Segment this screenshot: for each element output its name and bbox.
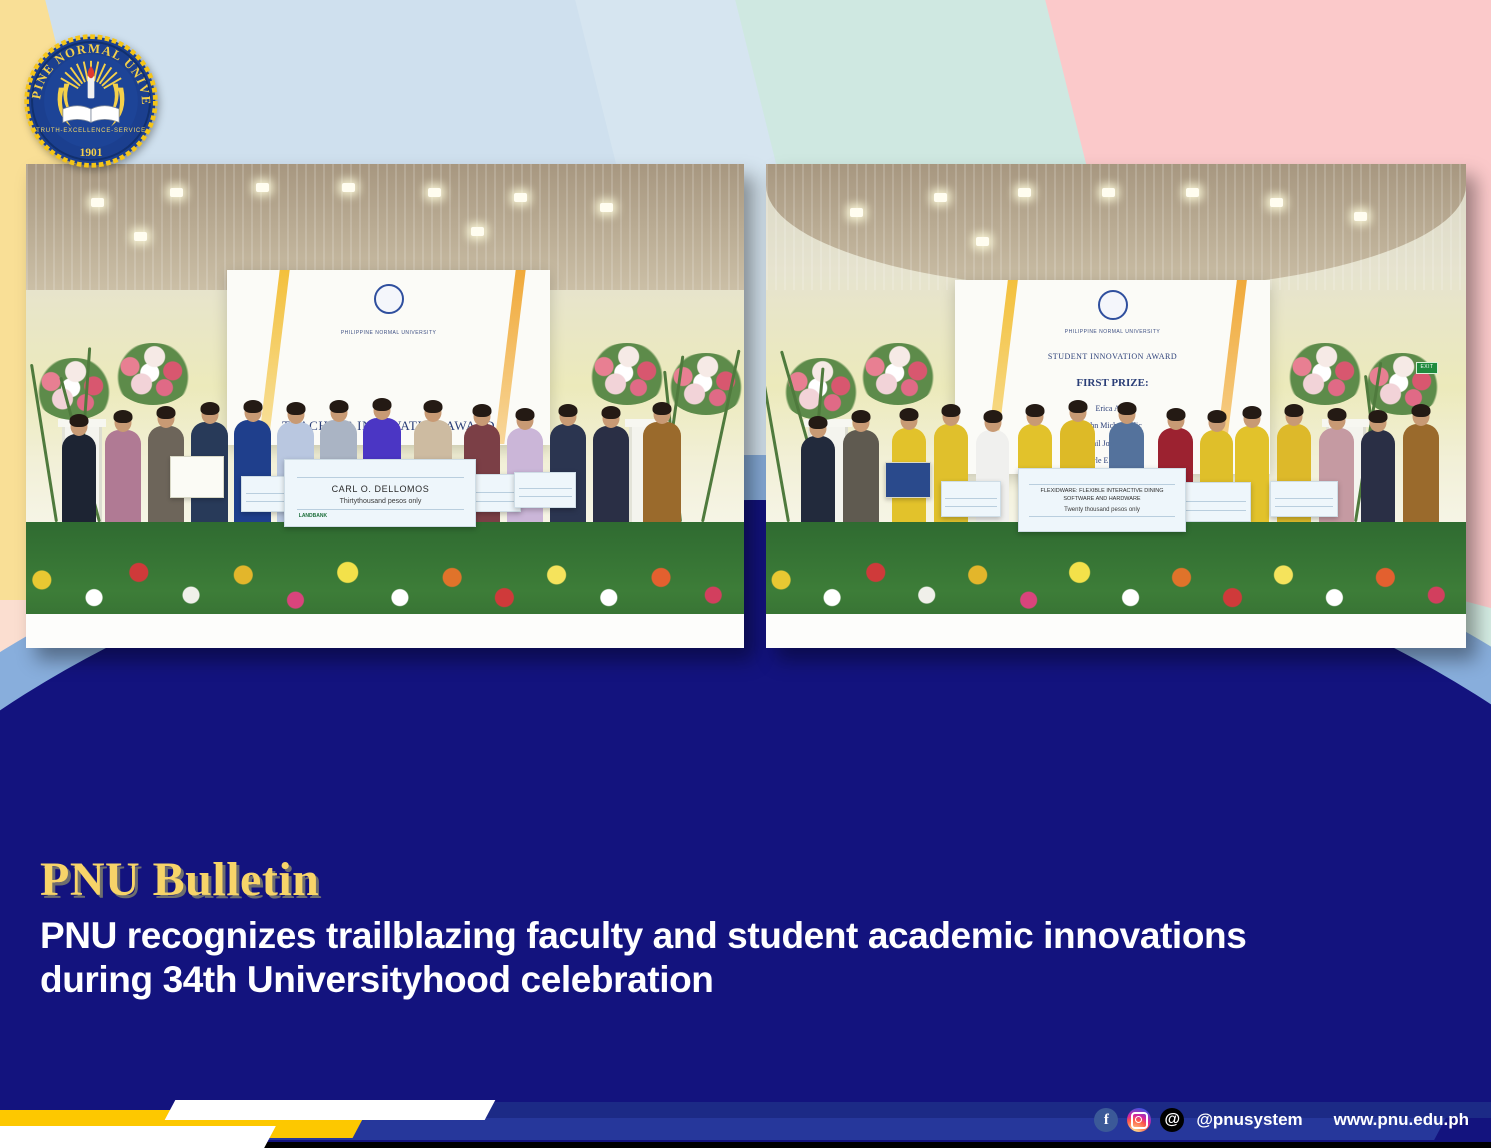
social-media-bar: f @ @pnusystem www.pnu.edu.ph [1094, 1108, 1469, 1132]
social-handle[interactable]: @pnusystem [1196, 1110, 1302, 1130]
check-project-right: FLEXIDWARE: FLEXIBLE INTERACTIVE DINING … [1036, 487, 1169, 503]
check-main-left: CARL O. DELLOMOS Thirtythousand pesos on… [284, 459, 476, 527]
check-bank-left: LANDBANK [299, 513, 327, 519]
bulletin-kicker: PNU Bulletin [40, 852, 319, 907]
headline: PNU recognizes trailblazing faculty and … [40, 914, 1440, 1003]
screen-university-right: PHILIPPINE NORMAL UNIVERSITY [1065, 329, 1161, 335]
photo-student-innovation-award: PHILIPPINE NORMAL UNIVERSITY STUDENT INN… [766, 164, 1466, 648]
svg-text:1901: 1901 [80, 147, 103, 159]
check-payee-left: CARL O. DELLOMOS [332, 484, 430, 494]
screen-prize-label-right: FIRST PRIZE: [1076, 377, 1148, 389]
pnu-seal-logo: TRUTH-EXCELLENCE-SERVICE PHILIPPINE NORM… [24, 28, 158, 174]
check-small-right-3 [1270, 481, 1338, 517]
check-amount-left: Thirtythousand pesos only [340, 498, 422, 505]
check-small-right-1 [941, 481, 1001, 517]
headline-line-1: PNU recognizes trailblazing faculty and … [40, 914, 1440, 958]
certificate-right [885, 462, 931, 498]
website-url[interactable]: www.pnu.edu.ph [1334, 1110, 1469, 1130]
exit-sign: EXIT [1416, 362, 1438, 374]
check-amount-right: Twenty thousand pesos only [1064, 507, 1140, 513]
threads-icon[interactable]: @ [1160, 1108, 1184, 1132]
pnu-bulletin-poster: TRUTH-EXCELLENCE-SERVICE PHILIPPINE NORM… [0, 0, 1491, 1148]
instagram-icon[interactable] [1127, 1108, 1151, 1132]
screen-university-left: PHILIPPINE NORMAL UNIVERSITY [341, 330, 437, 336]
screen-award-title-right: STUDENT INNOVATION AWARD [1048, 352, 1177, 361]
headline-line-2: during 34th Universityhood celebration [40, 958, 1440, 1002]
photo-teaching-innovation-award: PHILIPPINE NORMAL UNIVERSITY TEACHING IN… [26, 164, 744, 648]
check-small-right-2 [1179, 482, 1251, 522]
certificate-left [170, 456, 224, 498]
facebook-icon[interactable]: f [1094, 1108, 1118, 1132]
check-main-right: FLEXIDWARE: FLEXIBLE INTERACTIVE DINING … [1018, 468, 1186, 532]
check-small-left-3 [514, 472, 576, 508]
svg-text:TRUTH-EXCELLENCE-SERVICE: TRUTH-EXCELLENCE-SERVICE [36, 128, 146, 134]
